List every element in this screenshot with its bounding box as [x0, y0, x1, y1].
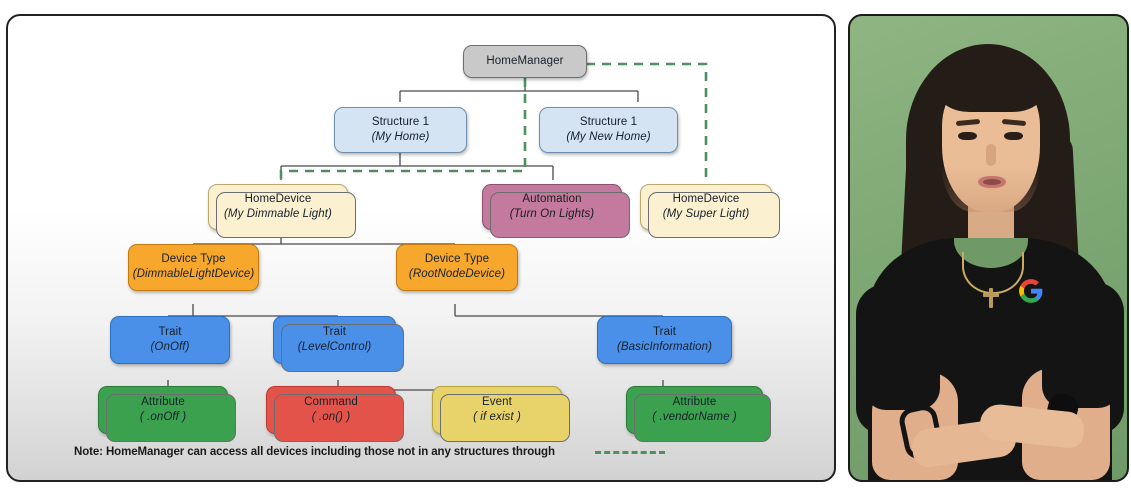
- diagram-panel: HomeManager Structure 1 (My Home) Struct…: [6, 14, 836, 482]
- node-label-line1: Attribute: [141, 396, 185, 410]
- node-label-line2: ( .vendorName ): [652, 411, 737, 425]
- node-label-line2: (My Super Light): [663, 208, 750, 222]
- node-label-line1: Trait: [323, 326, 346, 340]
- node-label-line2: (DimmableLightDevice): [133, 268, 255, 282]
- node-label-line1: Automation: [522, 193, 581, 207]
- node-label-line2: (My Dimmable Light): [224, 208, 332, 222]
- node-trait-onoff[interactable]: Trait (OnOff): [110, 316, 230, 364]
- node-trait-basicinformation[interactable]: Trait (BasicInformation): [597, 316, 732, 364]
- face-shading: [942, 166, 1040, 212]
- node-label-line1: HomeDevice: [245, 193, 312, 207]
- eye-left: [958, 132, 977, 140]
- hair-fringe: [938, 60, 1044, 112]
- node-label-line2: (LevelControl): [298, 341, 372, 355]
- presenter-video-panel[interactable]: [848, 14, 1129, 482]
- node-label-line1: Attribute: [673, 396, 717, 410]
- node-label-line2: (RootNodeDevice): [409, 268, 505, 282]
- node-event-if-exist[interactable]: Event ( if exist ): [432, 386, 562, 434]
- google-logo-icon: [1018, 278, 1044, 304]
- node-attribute-onoff[interactable]: Attribute ( .onOff ): [98, 386, 228, 434]
- cross-pendant-horizontal: [983, 293, 999, 297]
- node-label-line1: Command: [304, 396, 358, 410]
- sleeve-cuff-left: [864, 352, 940, 410]
- node-label-line1: Structure 1: [372, 116, 429, 130]
- node-device-type-root-node-device[interactable]: Device Type (RootNodeDevice): [396, 244, 518, 291]
- node-attribute-vendorname[interactable]: Attribute ( .vendorName ): [626, 386, 763, 434]
- node-label-line2: (OnOff): [150, 341, 189, 355]
- node-label-line2: (My Home): [372, 131, 430, 145]
- eye-right: [1004, 132, 1023, 140]
- node-structure-2[interactable]: Structure 1 (My New Home): [539, 107, 678, 153]
- node-label-line2: ( .on() ): [312, 411, 351, 425]
- node-label-line1: Structure 1: [580, 116, 637, 130]
- node-structure-1[interactable]: Structure 1 (My Home): [334, 107, 467, 153]
- node-label-line1: Trait: [653, 326, 676, 340]
- node-label-line2: (BasicInformation): [617, 341, 712, 355]
- node-label-line1: Device Type: [425, 253, 489, 267]
- dashed-line-legend-icon: [595, 451, 665, 454]
- node-label-line2: (Turn On Lights): [510, 208, 594, 222]
- node-automation-turn-on-lights[interactable]: Automation (Turn On Lights): [482, 184, 622, 230]
- node-device-type-dimmable-light-device[interactable]: Device Type (DimmableLightDevice): [128, 244, 259, 291]
- node-label-line1: Trait: [158, 326, 181, 340]
- node-label-line1: Event: [482, 396, 512, 410]
- node-home-device-dimmable-light[interactable]: HomeDevice (My Dimmable Light): [208, 184, 348, 230]
- node-command-on[interactable]: Command ( .on() ): [266, 386, 396, 434]
- node-trait-levelcontrol[interactable]: Trait (LevelControl): [273, 316, 396, 364]
- node-label-line2: (My New Home): [566, 131, 650, 145]
- node-label-line2: ( .onOff ): [140, 411, 186, 425]
- note-text: Note: HomeManager can access all devices…: [74, 446, 555, 458]
- cross-pendant-vertical: [989, 288, 993, 308]
- diagram-note: Note: HomeManager can access all devices…: [8, 442, 834, 462]
- screenshot-root: HomeManager Structure 1 (My Home) Struct…: [0, 0, 1131, 490]
- node-label-line1: HomeDevice: [673, 193, 740, 207]
- node-home-manager[interactable]: HomeManager: [463, 45, 587, 78]
- mouth-inner: [983, 179, 1001, 185]
- node-label-line1: HomeManager: [486, 55, 563, 69]
- node-label-line1: Device Type: [161, 253, 225, 267]
- node-home-device-super-light[interactable]: HomeDevice (My Super Light): [640, 184, 772, 230]
- node-label-line2: ( if exist ): [473, 411, 521, 425]
- nose: [986, 144, 996, 166]
